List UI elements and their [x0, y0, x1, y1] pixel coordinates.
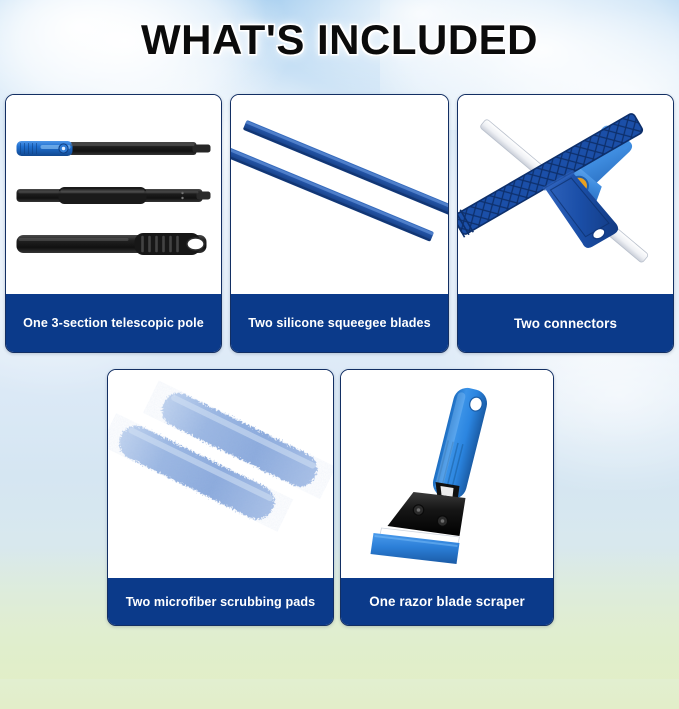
- card-label-telescopic-pole: One 3-section telescopic pole: [6, 294, 221, 352]
- page-title: WHAT'S INCLUDED: [0, 16, 679, 64]
- product-card-squeegee-blades[interactable]: Two silicone squeegee blades: [230, 94, 449, 353]
- connector-icon: [458, 95, 673, 293]
- razor-scraper-image: [341, 370, 553, 578]
- connectors-image: [458, 95, 673, 293]
- card-label-connectors: Two connectors: [458, 294, 673, 352]
- pole-section-top: [17, 141, 211, 156]
- scraper-head: [388, 492, 466, 536]
- product-card-razor-scraper[interactable]: One razor blade scraper: [340, 369, 554, 626]
- microfiber-pad-icon: [108, 370, 333, 578]
- pole-section-bottom: [17, 233, 207, 255]
- product-card-connectors[interactable]: Two connectors: [457, 94, 674, 353]
- product-card-microfiber-pads[interactable]: Two microfiber scrubbing pads: [107, 369, 334, 626]
- card-label-squeegee-blades: Two silicone squeegee blades: [231, 294, 448, 352]
- telescopic-pole-icon: [6, 95, 221, 293]
- connector-dark: [458, 111, 673, 293]
- pole-section-middle: [17, 187, 211, 204]
- squeegee-blades-image: [231, 95, 448, 293]
- product-card-telescopic-pole[interactable]: One 3-section telescopic pole: [5, 94, 222, 353]
- card-label-microfiber-pads: Two microfiber scrubbing pads: [108, 578, 333, 625]
- razor-blade-scraper-icon: [341, 370, 553, 578]
- microfiber-pads-image: [108, 370, 333, 578]
- squeegee-blade-icon: [231, 95, 448, 293]
- card-label-razor-scraper: One razor blade scraper: [341, 578, 553, 625]
- telescopic-pole-image: [6, 95, 221, 293]
